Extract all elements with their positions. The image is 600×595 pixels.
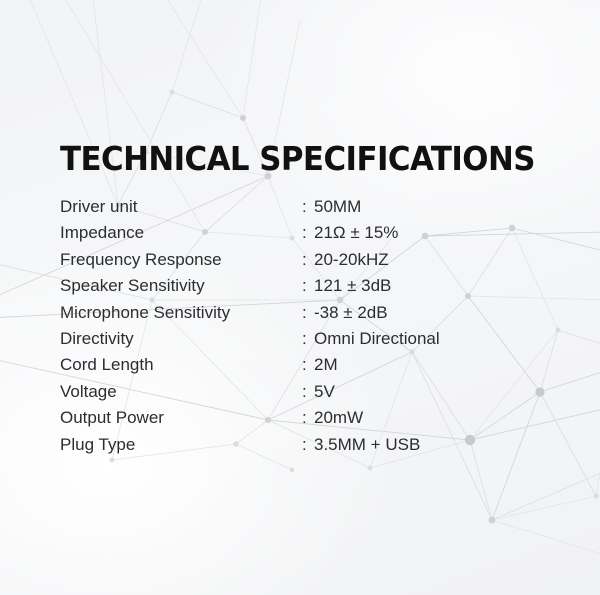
table-row: Frequency Response : 20-20kHZ: [60, 247, 550, 273]
table-row: Speaker Sensitivity : 121 ± 3dB: [60, 273, 550, 299]
spec-separator: :: [302, 194, 314, 220]
table-row: Cord Length : 2M: [60, 352, 550, 378]
spec-content: TECHNICAL SPECIFICATIONS Driver unit : 5…: [60, 140, 550, 458]
spec-label-microphone-sensitivity: Microphone Sensitivity: [60, 300, 302, 326]
spec-separator: :: [302, 273, 314, 299]
spec-value-driver-unit: 50MM: [314, 194, 550, 220]
table-row: Impedance : 21Ω ± 15%: [60, 220, 550, 246]
spec-value-voltage: 5V: [314, 379, 550, 405]
spec-separator: :: [302, 379, 314, 405]
specifications-table: Driver unit : 50MM Impedance : 21Ω ± 15%…: [60, 194, 550, 458]
spec-separator: :: [302, 220, 314, 246]
spec-value-microphone-sensitivity: -38 ± 2dB: [314, 300, 550, 326]
spec-separator: :: [302, 247, 314, 273]
spec-value-speaker-sensitivity: 121 ± 3dB: [314, 273, 550, 299]
table-row: Voltage : 5V: [60, 379, 550, 405]
table-row: Microphone Sensitivity : -38 ± 2dB: [60, 300, 550, 326]
table-row: Plug Type : 3.5MM + USB: [60, 432, 550, 458]
spec-value-directivity: Omni Directional: [314, 326, 550, 352]
spec-label-plug-type: Plug Type: [60, 432, 302, 458]
table-row: Driver unit : 50MM: [60, 194, 550, 220]
spec-label-frequency-response: Frequency Response: [60, 247, 302, 273]
spec-label-directivity: Directivity: [60, 326, 302, 352]
spec-label-speaker-sensitivity: Speaker Sensitivity: [60, 273, 302, 299]
spec-separator: :: [302, 352, 314, 378]
page-title: TECHNICAL SPECIFICATIONS: [60, 140, 518, 178]
spec-value-cord-length: 2M: [314, 352, 550, 378]
spec-label-driver-unit: Driver unit: [60, 194, 302, 220]
specifications-table-body: Driver unit : 50MM Impedance : 21Ω ± 15%…: [60, 194, 550, 458]
spec-sheet-poster: TECHNICAL SPECIFICATIONS Driver unit : 5…: [0, 0, 600, 595]
table-row: Directivity : Omni Directional: [60, 326, 550, 352]
spec-separator: :: [302, 432, 314, 458]
spec-label-voltage: Voltage: [60, 379, 302, 405]
spec-label-cord-length: Cord Length: [60, 352, 302, 378]
table-row: Output Power : 20mW: [60, 405, 550, 431]
spec-value-output-power: 20mW: [314, 405, 550, 431]
spec-value-frequency-response: 20-20kHZ: [314, 247, 550, 273]
spec-label-impedance: Impedance: [60, 220, 302, 246]
spec-value-plug-type: 3.5MM + USB: [314, 432, 550, 458]
spec-label-output-power: Output Power: [60, 405, 302, 431]
spec-separator: :: [302, 405, 314, 431]
spec-separator: :: [302, 326, 314, 352]
spec-value-impedance: 21Ω ± 15%: [314, 220, 550, 246]
spec-separator: :: [302, 300, 314, 326]
